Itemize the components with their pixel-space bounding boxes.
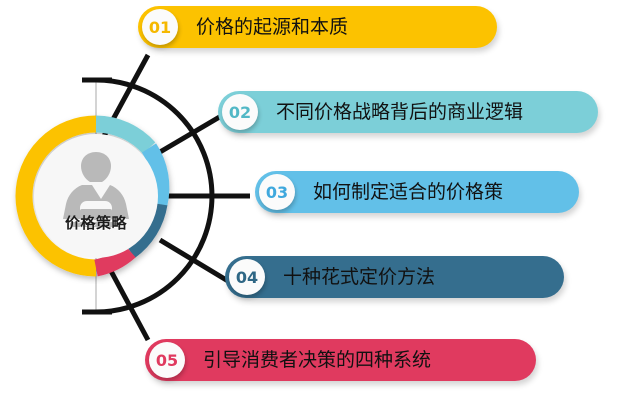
item-label-05: 引导消费者决策的四种系统: [203, 351, 431, 370]
item-badge-01: 01: [142, 9, 178, 45]
item-badge-04: 04: [229, 259, 265, 295]
item-row-03[interactable]: 03 如何制定适合的价格策: [255, 171, 579, 213]
item-badge-05: 05: [149, 342, 185, 378]
item-badge-03: 03: [259, 174, 295, 210]
item-badge-02: 02: [222, 94, 258, 130]
item-label-01: 价格的起源和本质: [196, 18, 348, 37]
item-label-02: 不同价格战略背后的商业逻辑: [276, 103, 523, 122]
infographic-canvas: 价格策略 01 价格的起源和本质 02 不同价格战略背后的商业逻辑 03 如何制…: [0, 0, 624, 401]
hub-donut: [8, 108, 184, 284]
item-row-01[interactable]: 01 价格的起源和本质: [138, 6, 497, 48]
item-pill-01[interactable]: 01 价格的起源和本质: [138, 6, 497, 48]
item-label-03: 如何制定适合的价格策: [313, 183, 503, 202]
item-label-04: 十种花式定价方法: [283, 268, 435, 287]
center-hub: 价格策略: [8, 108, 184, 284]
item-pill-02[interactable]: 02 不同价格战略背后的商业逻辑: [218, 91, 598, 133]
hub-label: 价格策略: [8, 212, 184, 233]
item-pill-04[interactable]: 04 十种花式定价方法: [225, 256, 564, 298]
item-pill-05[interactable]: 05 引导消费者决策的四种系统: [145, 339, 536, 381]
item-row-04[interactable]: 04 十种花式定价方法: [225, 256, 564, 298]
item-row-05[interactable]: 05 引导消费者决策的四种系统: [145, 339, 536, 381]
item-row-02[interactable]: 02 不同价格战略背后的商业逻辑: [218, 91, 598, 133]
item-pill-03[interactable]: 03 如何制定适合的价格策: [255, 171, 579, 213]
